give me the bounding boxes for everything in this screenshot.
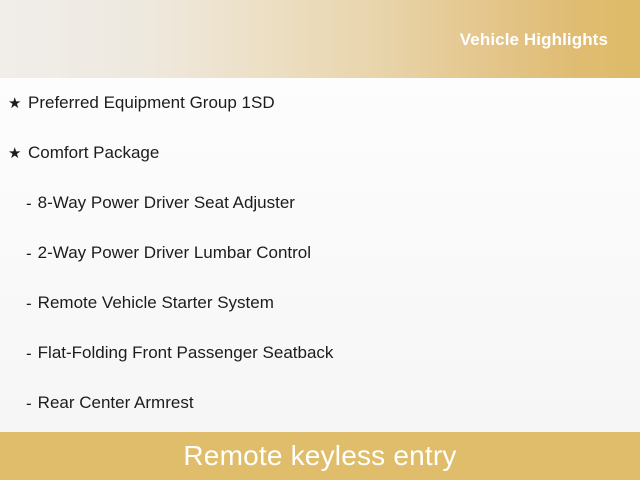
vehicle-highlights-slide: Vehicle Highlights ★Preferred Equipment … bbox=[0, 0, 640, 480]
header-banner: Vehicle Highlights bbox=[0, 0, 640, 78]
highlight-label: Flat-Folding Front Passenger Seatback bbox=[38, 343, 334, 363]
dash-bullet-icon: - bbox=[26, 395, 32, 412]
highlight-subitem: -Rear Center Armrest bbox=[0, 378, 640, 428]
highlight-item: ★Preferred Equipment Group 1SD bbox=[0, 78, 640, 128]
highlight-label: Rear Center Armrest bbox=[38, 393, 194, 413]
highlight-label: Remote Vehicle Starter System bbox=[38, 293, 274, 313]
highlight-subitem: -Remote Vehicle Starter System bbox=[0, 278, 640, 328]
highlight-label: Comfort Package bbox=[28, 143, 159, 163]
dash-bullet-icon: - bbox=[26, 195, 32, 212]
footer-caption: Remote keyless entry bbox=[183, 442, 456, 470]
highlight-label: Preferred Equipment Group 1SD bbox=[28, 93, 275, 113]
highlight-label: 2-Way Power Driver Lumbar Control bbox=[38, 243, 311, 263]
dash-bullet-icon: - bbox=[26, 245, 32, 262]
page-title: Vehicle Highlights bbox=[460, 31, 608, 48]
highlight-label: 8-Way Power Driver Seat Adjuster bbox=[38, 193, 295, 213]
dash-bullet-icon: - bbox=[26, 345, 32, 362]
footer-banner: Remote keyless entry bbox=[0, 432, 640, 480]
dash-bullet-icon: - bbox=[26, 295, 32, 312]
highlight-item: ★Comfort Package bbox=[0, 128, 640, 178]
highlight-subitem: -Flat-Folding Front Passenger Seatback bbox=[0, 328, 640, 378]
star-bullet-icon: ★ bbox=[8, 146, 26, 161]
star-bullet-icon: ★ bbox=[8, 96, 26, 111]
highlight-subitem: -2-Way Power Driver Lumbar Control bbox=[0, 228, 640, 278]
highlight-subitem: -8-Way Power Driver Seat Adjuster bbox=[0, 178, 640, 228]
highlights-list: ★Preferred Equipment Group 1SD★Comfort P… bbox=[0, 78, 640, 432]
